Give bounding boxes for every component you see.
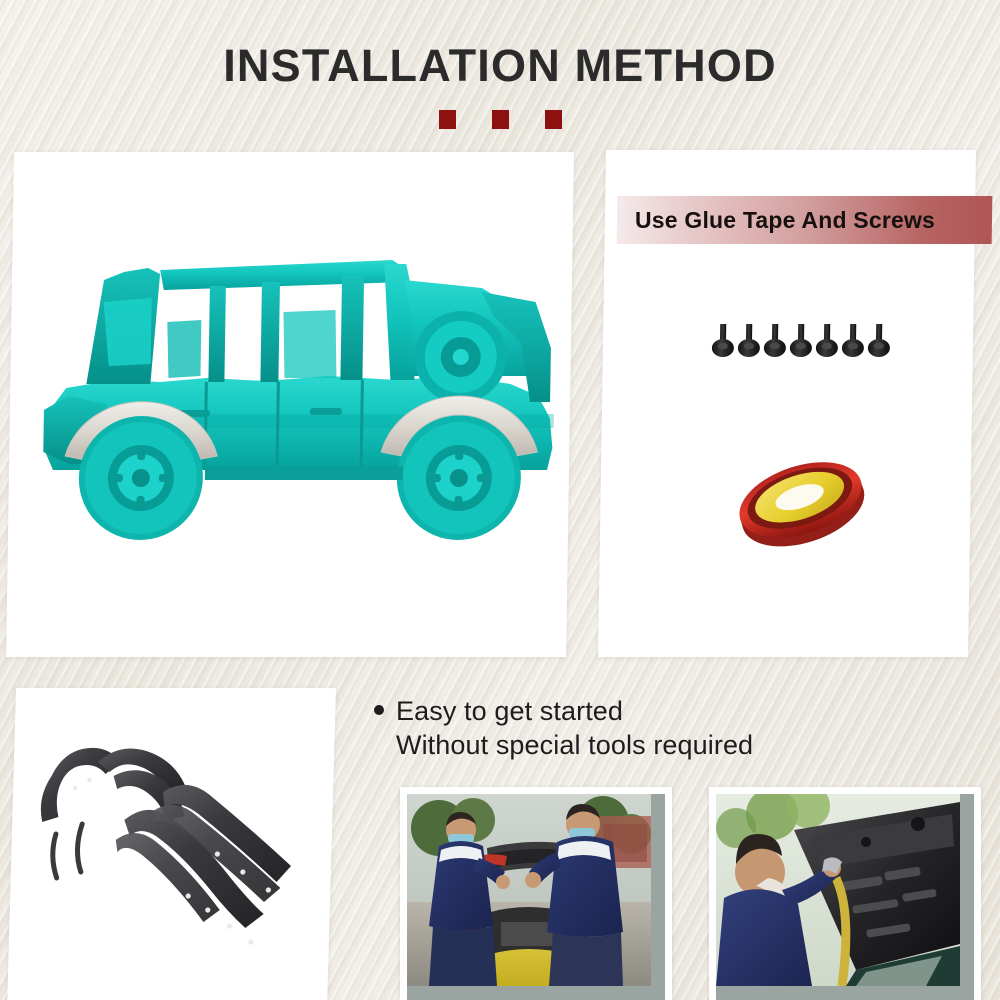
page-background: INSTALLATION METHOD xyxy=(0,0,1000,1000)
installers-fitting-spoiler-photo xyxy=(407,794,651,986)
suv-body-render-svg xyxy=(6,152,574,657)
glue-tape-banner: Use Glue Tape And Screws xyxy=(617,196,993,244)
installation-photo-2 xyxy=(709,787,981,1000)
glue-tape-roll xyxy=(730,448,873,560)
screw-row xyxy=(712,324,891,357)
vehicle-render-card xyxy=(6,152,574,657)
divider-dot xyxy=(439,110,456,129)
glue-tape-banner-label: Use Glue Tape And Screws xyxy=(635,207,935,234)
fender-flare-kit-image xyxy=(7,688,336,1000)
installation-photo-1 xyxy=(400,787,672,1000)
page-title: INSTALLATION METHOD xyxy=(0,40,1000,92)
installation-photo-1-frame xyxy=(407,794,665,1000)
bullet-point-icon xyxy=(374,705,384,715)
benefit-line-2: Without special tools required xyxy=(374,728,844,762)
divider-dot xyxy=(545,110,562,129)
benefit-line-1-text: Easy to get started xyxy=(396,696,623,726)
installer-using-tool-photo xyxy=(716,794,960,986)
benefit-line-1: Easy to get started xyxy=(374,694,844,728)
divider-dot xyxy=(492,110,509,129)
benefit-list: Easy to get started Without special tool… xyxy=(374,694,844,762)
vehicle-render-image xyxy=(6,152,574,657)
fender-flare-kit-card xyxy=(7,688,336,1000)
fender-flare-parts-svg xyxy=(7,688,336,1000)
divider-dots xyxy=(0,110,1000,129)
installation-photo-2-frame xyxy=(716,794,974,1000)
